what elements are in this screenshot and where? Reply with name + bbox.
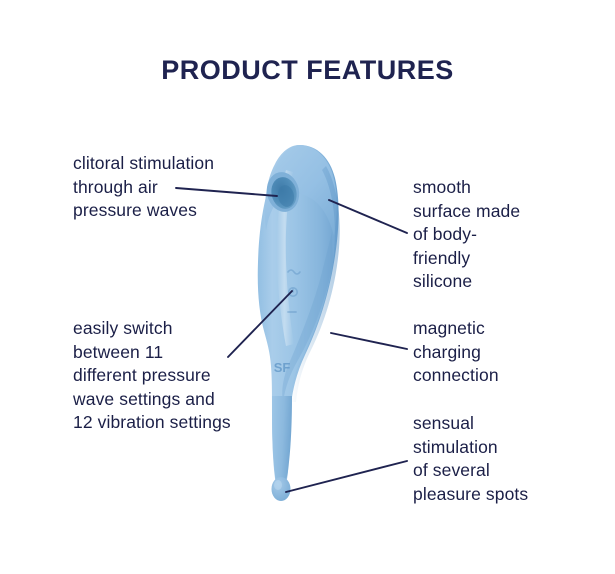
leader-line-sensual — [286, 461, 407, 492]
product-features-infographic: PRODUCT FEATURES — [0, 0, 615, 574]
leader-line-magnetic — [331, 333, 407, 349]
leader-line-switch — [228, 291, 292, 357]
leader-lines — [0, 0, 615, 574]
leader-line-smooth — [329, 200, 407, 233]
leader-line-clitoral — [176, 188, 277, 196]
